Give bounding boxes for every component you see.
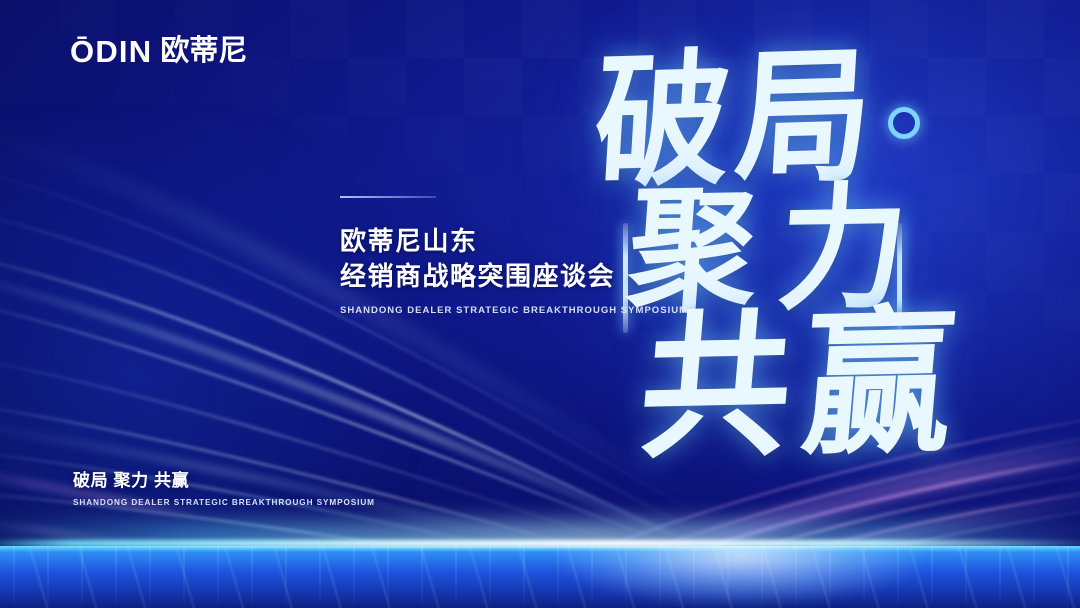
stage-backdrop: ŌDIN 欧蒂尼 欧蒂尼山东 经销商战略突围座谈会 SHANDONG DEALE… — [0, 0, 1080, 608]
logo-latin-text: ŌDIN — [70, 36, 152, 67]
horizon-line — [0, 540, 1080, 547]
ground-plane — [0, 546, 1080, 608]
slogan-chinese: 破局 聚力 共赢 — [73, 466, 375, 491]
odin-logo: ŌDIN 欧蒂尼 — [70, 36, 247, 67]
title-line-1: 欧蒂尼山东 — [340, 224, 688, 259]
headline-row-1: 破局 — [591, 49, 882, 191]
slogan-english: SHANDONG DEALER STRATEGIC BREAKTHROUGH S… — [73, 498, 375, 507]
logo-chinese-text: 欧蒂尼 — [160, 37, 247, 66]
title-block: 欧蒂尼山东 经销商战略突围座谈会 SHANDONG DEALER STRATEG… — [340, 196, 688, 316]
slogan-block: 破局 聚力 共赢 SHANDONG DEALER STRATEGIC BREAK… — [73, 466, 375, 507]
title-line-2: 经销商战略突围座谈会 — [340, 259, 688, 294]
ground-hotspot — [560, 546, 920, 604]
title-english-subtitle: SHANDONG DEALER STRATEGIC BREAKTHROUGH S… — [340, 305, 688, 316]
headline-row-3: 共赢 — [635, 310, 972, 462]
title-divider-rule — [340, 196, 436, 198]
degree-mark-icon — [888, 107, 920, 139]
